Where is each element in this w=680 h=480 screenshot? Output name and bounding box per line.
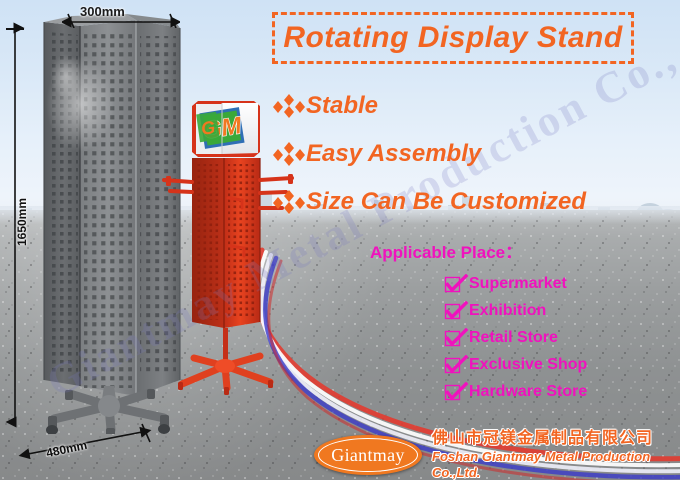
dimension-label-height: 1650mm [15,192,29,252]
feature-item: Easy Assembly [272,130,672,178]
dimension-depth-bottom: 480mm [18,420,168,468]
list-item: Hardware Store [443,378,670,405]
title-banner: Rotating Display Stand [272,12,634,64]
feature-list: Stable Easy Assembly [272,82,672,226]
giantmay-logo: Giantmay [314,435,422,475]
diamond-cluster-icon [272,141,306,167]
company-name-cn: 佛山市冠镁金属制品有限公司 [432,430,680,448]
checkbox-checked-icon [443,274,469,294]
applicable-place-list: Supermarket Exhibition Retail Store [443,270,670,405]
list-item: Supermarket [443,270,670,297]
red-stand-header-box: GM G [192,101,260,157]
checkbox-checked-icon [443,328,469,348]
dimension-height-left: 1650mm [4,20,26,430]
feature-label: Size Can Be Customized [306,188,586,216]
dimension-label-width: 300mm [80,4,125,19]
checkbox-checked-icon [443,355,469,375]
diamond-cluster-icon [272,93,306,119]
list-item-label: Exhibition [469,302,546,320]
list-item-label: Exclusive Shop [469,356,587,374]
feature-label: Easy Assembly [306,140,481,168]
list-item: Exclusive Shop [443,351,670,378]
list-item: Exhibition [443,297,670,324]
feature-label: Stable [306,92,378,120]
list-item: Retail Store [443,324,670,351]
company-name-block: 佛山市冠镁金属制品有限公司 Foshan Giantmay Metal Prod… [432,430,680,480]
checkbox-checked-icon [443,301,469,321]
feature-item: Stable [272,82,672,130]
page-title: Rotating Display Stand [275,15,631,61]
logo-text: Giantmay [331,445,404,466]
company-name-en: Foshan Giantmay Metal Production Co.,Ltd… [432,449,680,480]
feature-item: Size Can Be Customized [272,178,672,226]
red-base-spider [178,356,273,395]
dimension-width-top: 300mm [62,6,180,28]
list-item-label: Retail Store [469,329,558,347]
applicable-place-section: Applicable Place： Supermarket Exhibition [370,238,670,405]
diamond-cluster-icon [272,189,306,215]
footer-branding: Giantmay 佛山市冠镁金属制品有限公司 Foshan Giantmay M… [300,430,680,480]
list-item-label: Hardware Store [469,383,587,401]
dimension-arrow-diagonal [18,420,168,468]
applicable-place-heading: Applicable Place： [370,238,670,263]
checkbox-checked-icon [443,382,469,402]
svg-text:G: G [200,117,217,139]
list-item-label: Supermarket [469,275,567,293]
promo-banner: GM G [0,0,680,480]
